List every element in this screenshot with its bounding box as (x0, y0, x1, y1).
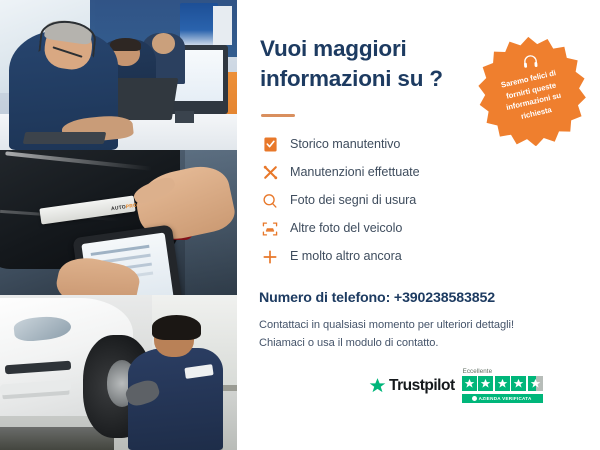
rating-label: Eccellente (463, 368, 493, 375)
star-filled (495, 376, 510, 391)
car-scan-icon (259, 219, 281, 239)
trustpilot-wordmark: Trustpilot (389, 377, 455, 395)
photo-wheel-inspection (0, 295, 237, 450)
contact-line-1: Contattaci in qualsiasi momento per ulte… (259, 317, 514, 335)
page-title: Vuoi maggiori informazioni su ? (260, 34, 460, 94)
star-filled (462, 376, 477, 391)
starburst-shape (472, 30, 592, 150)
verified-badge: AZIENDA VERIFICATA (462, 394, 543, 403)
trustpilot-logo[interactable]: Trustpilot (369, 377, 455, 395)
keyboard (22, 132, 105, 144)
list-item-label: Altre foto del veicolo (290, 222, 402, 235)
magnifier-icon (259, 191, 281, 211)
trustpilot-widget[interactable]: Trustpilot Eccellente (369, 368, 543, 403)
promo-banner: AUTOPROFF Vu (0, 0, 600, 450)
list-item: Manutenzioni effettuate (259, 159, 489, 186)
list-item-label: Storico manutentivo (290, 138, 400, 151)
star-filled (478, 376, 493, 391)
check-icon (472, 396, 477, 401)
wall-poster-secondary (213, 6, 232, 45)
trustpilot-rating: Eccellente (462, 368, 543, 403)
list-item: Storico manutentivo (259, 131, 489, 158)
agent-three-head (152, 33, 176, 54)
photo-car-inspection: AUTOPROFF (0, 150, 237, 295)
photo-column: AUTOPROFF (0, 0, 237, 450)
plus-icon (259, 247, 281, 267)
star-half (528, 376, 543, 391)
list-item-label: E molto altro ancora (290, 250, 402, 263)
trustpilot-star-icon (369, 377, 386, 394)
feature-list: Storico manutentivo Manutenzioni effettu… (259, 131, 489, 271)
title-divider (261, 114, 295, 117)
monitor-stand (175, 111, 194, 123)
list-item: E molto altro ancora (259, 243, 489, 270)
phone-line: Numero di telefono: +390238583852 (259, 290, 495, 306)
contact-line-2: Chiamaci o usa il modulo di contatto. (259, 335, 514, 353)
list-item: Foto dei segni di usura (259, 187, 489, 214)
mechanic-hair (152, 315, 202, 340)
photo-call-center (0, 0, 237, 150)
callout-badge: Saremo felici di fornirti queste informa… (472, 30, 592, 150)
list-item-label: Manutenzioni effettuate (290, 166, 420, 179)
agent-two-hair (110, 38, 141, 52)
content-panel: Vuoi maggiori informazioni su ? Saremo f… (237, 0, 600, 450)
contact-text: Contattaci in qualsiasi momento per ulte… (259, 317, 514, 353)
crossed-tools-icon (259, 163, 281, 183)
list-item: Altre foto del veicolo (259, 215, 489, 242)
star-filled (511, 376, 526, 391)
star-rating (462, 376, 543, 391)
clipboard-check-icon (259, 135, 281, 155)
verified-label: AZIENDA VERIFICATA (479, 396, 532, 401)
list-item-label: Foto dei segni di usura (290, 194, 416, 207)
